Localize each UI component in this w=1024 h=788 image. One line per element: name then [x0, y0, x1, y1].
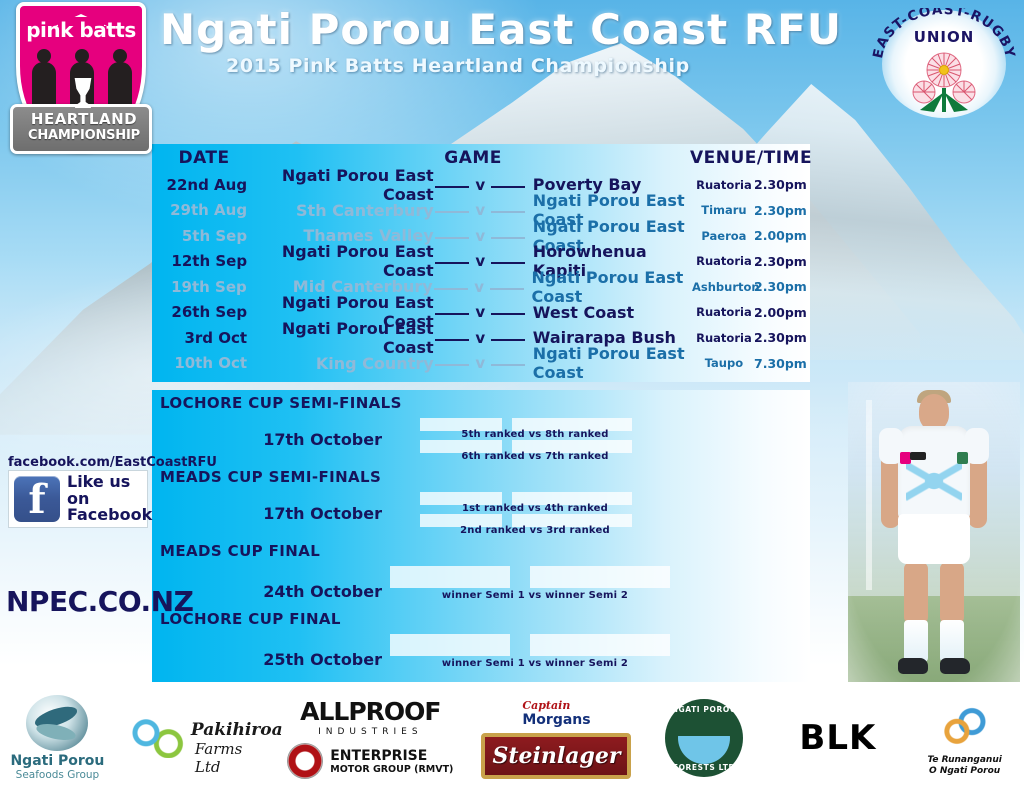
fixture-venue: Ruatoria	[694, 254, 754, 268]
fixture-score-vs: v	[433, 278, 526, 296]
fixture-date: 10th Oct	[152, 354, 257, 372]
home-score-blank	[435, 313, 469, 315]
finals-section-title: LOCHORE CUP SEMI-FINALS	[152, 390, 810, 416]
heartland-label: HEARTLAND	[13, 110, 155, 128]
fixture-time: 2.30pm	[754, 254, 810, 269]
home-score-blank	[435, 262, 469, 264]
fixture-date: 5th Sep	[152, 227, 257, 245]
player-silhouette-left	[32, 62, 56, 110]
sponsor-allproof-enterprise: ALLPROOF INDUSTRIES ENTERPRISE MOTOR GRO…	[273, 690, 467, 786]
allproof-wordmark: ALLPROOF	[300, 697, 440, 726]
versus-label: v	[475, 201, 485, 219]
fixture-poster: pink batts HEARTLAND CHAMPIONSHIP Ngati …	[0, 0, 1024, 788]
versus-label: v	[475, 252, 485, 270]
player-head	[919, 394, 949, 430]
sponsor-blk: BLK	[779, 690, 898, 786]
table-row: 29th AugSth CanterburyvNgati Porou East …	[152, 198, 810, 224]
fixtures-row-list: 22nd AugNgati Porou East CoastvPoverty B…	[152, 172, 810, 376]
away-score-blank	[491, 237, 525, 239]
sponsor-name-line2: Farms Ltd	[195, 740, 265, 776]
fixture-date: 19th Sep	[152, 278, 257, 296]
finals-match-line: 5th ranked vs 8th ranked	[420, 418, 650, 440]
finals-match-caption: winner Semi 1 vs winner Semi 2	[390, 590, 680, 601]
sponsor-ngati-porou-forests: NGATI POROU FORESTS LTD	[650, 690, 759, 786]
facebook-url[interactable]: facebook.com/EastCoastRFU	[8, 455, 217, 470]
finals-section-title: MEADS CUP FINAL	[152, 538, 810, 564]
heartland-banner: HEARTLAND CHAMPIONSHIP	[10, 104, 152, 154]
header-title-block: Ngati Porou East Coast RFU 2015 Pink Bat…	[160, 8, 860, 77]
player-silhouette-right	[108, 62, 132, 110]
fixture-score-vs: v	[434, 354, 527, 372]
sponsor-name-line2: Seafoods Group	[16, 769, 100, 781]
player-sock-left	[904, 620, 928, 662]
pink-batts-wordmark: pink batts	[10, 18, 152, 42]
finals-match-caption: 6th ranked vs 7th ranked	[420, 451, 650, 462]
away-score-blank	[491, 186, 525, 188]
finals-match-line: 2nd ranked vs 3rd ranked	[420, 514, 650, 536]
team-entry-box-left[interactable]	[390, 566, 510, 588]
fish-koru-icon	[26, 695, 88, 751]
away-score-blank	[491, 313, 525, 315]
enterprise-name: ENTERPRISE	[330, 748, 453, 764]
fixture-home-team: Sth Canterbury	[257, 201, 434, 220]
championship-label: CHAMPIONSHIP	[13, 128, 155, 143]
fixture-away-team: Ngati Porou East Coast	[527, 344, 694, 382]
fixture-venue: Ruatoria	[694, 331, 754, 345]
forests-inner-disc	[678, 712, 730, 764]
union-label: UNION	[868, 28, 1020, 46]
fixture-time: 2.30pm	[754, 279, 810, 294]
sponsor-name-line1: Ngati Porou	[10, 753, 104, 769]
away-score-blank	[491, 262, 525, 264]
blk-wordmark: BLK	[799, 718, 876, 758]
koru-icon	[125, 716, 195, 758]
team-entry-box-right[interactable]	[530, 566, 670, 588]
fixture-venue: Paeroa	[694, 229, 754, 243]
table-row: 19th SepMid CanterburyvNgati Porou East …	[152, 274, 810, 300]
home-score-blank	[435, 339, 469, 341]
table-row: 10th OctKing CountryvNgati Porou East Co…	[152, 351, 810, 377]
pink-batts-logo: pink batts HEARTLAND CHAMPIONSHIP	[10, 2, 152, 174]
fixture-score-vs: v	[434, 252, 527, 270]
finals-match-caption: 1st ranked vs 4th ranked	[420, 503, 650, 514]
finals-match-caption: 5th ranked vs 8th ranked	[420, 429, 650, 440]
te-runanganui-line1: Te Runanganui	[927, 755, 1001, 766]
fixture-date: 26th Sep	[152, 303, 257, 321]
jersey-badge-crest	[957, 452, 968, 464]
fixture-time: 7.30pm	[754, 356, 810, 371]
home-score-blank	[435, 364, 469, 366]
page-title: Ngati Porou East Coast RFU	[160, 8, 860, 52]
enterprise-seal-icon	[287, 743, 323, 779]
sponsor-pakihiroa-farms: Pakihiroa Farms Ltd	[119, 690, 265, 786]
player-leg-left	[904, 562, 928, 624]
versus-label: v	[475, 227, 485, 245]
east-coast-rugby-union-logo: EAST-COAST-RUGBY UNION	[868, 2, 1020, 124]
fixture-home-team: King Country	[257, 354, 434, 373]
player-sock-right	[940, 620, 964, 662]
versus-label: v	[475, 329, 485, 347]
table-row: 5th SepThames ValleyvNgati Porou East Co…	[152, 223, 810, 249]
finals-date: 24th October	[212, 582, 382, 601]
te-runanganui-name: Te Runanganui O Ngati Porou	[927, 755, 1001, 777]
finals-match-line: winner Semi 1 vs winner Semi 2	[390, 634, 680, 664]
facebook-cta-line1: Like us on	[67, 474, 152, 508]
forests-top-label: NGATI POROU	[665, 705, 743, 714]
away-score-blank	[491, 211, 525, 213]
player-shorts	[898, 514, 970, 564]
fixtures-panel: DATE GAME VENUE/TIME 22nd AugNgati Porou…	[152, 144, 810, 382]
sponsor-ngati-porou-seafoods: Ngati Porou Seafoods Group	[4, 690, 111, 786]
fixture-date: 22nd Aug	[152, 176, 257, 194]
finals-date: 25th October	[212, 650, 382, 669]
pohutukawa-flower-icon	[904, 46, 984, 118]
website-url[interactable]: NPEC.CO.NZ	[6, 585, 193, 618]
column-header-date: DATE	[152, 148, 256, 168]
home-score-blank	[434, 288, 468, 290]
home-score-blank	[435, 186, 469, 188]
fixture-score-vs: v	[434, 227, 527, 245]
away-score-blank	[490, 288, 524, 290]
fixture-venue: Ashburton	[692, 280, 754, 294]
finals-section-list: LOCHORE CUP SEMI-FINALS17th October5th r…	[152, 390, 810, 674]
fixture-date: 12th Sep	[152, 252, 257, 270]
allproof-tagline: INDUSTRIES	[318, 727, 422, 737]
te-runanganui-koru-icon	[936, 700, 994, 754]
jersey-badge-blk	[910, 452, 926, 460]
fixture-venue: Taupo	[694, 356, 754, 370]
home-score-blank	[435, 211, 469, 213]
versus-label: v	[475, 303, 485, 321]
field-grass	[848, 596, 1020, 682]
finals-section: MEADS CUP FINAL24th Octoberwinner Semi 1…	[152, 538, 810, 606]
te-runanganui-line2: O Ngati Porou	[927, 766, 1001, 777]
finals-section-body: 17th October5th ranked vs 8th ranked6th …	[152, 416, 810, 464]
page-subtitle: 2015 Pink Batts Heartland Championship	[160, 55, 860, 77]
steinlager-wordmark: Steinlager	[492, 743, 620, 769]
finals-date: 17th October	[212, 430, 382, 449]
finals-match-slots: 1st ranked vs 4th ranked2nd ranked vs 3r…	[420, 492, 650, 536]
forests-bottom-label: FORESTS LTD	[665, 763, 743, 772]
fixture-score-vs: v	[434, 176, 527, 194]
finals-section-body: 24th Octoberwinner Semi 1 vs winner Semi…	[152, 564, 810, 606]
away-score-blank	[491, 339, 525, 341]
finals-match-line: 6th ranked vs 7th ranked	[420, 440, 650, 462]
finals-section-body: 25th Octoberwinner Semi 1 vs winner Semi…	[152, 632, 810, 674]
players-silhouette-icon	[32, 48, 132, 110]
fixture-score-vs: v	[434, 303, 527, 321]
steinlager-plaque: Steinlager	[481, 733, 631, 779]
fixture-score-vs: v	[434, 201, 527, 219]
sponsor-bar: Ngati Porou Seafoods Group Pakihiroa Far…	[0, 688, 1024, 788]
versus-label: v	[475, 354, 485, 372]
table-row: 12th SepNgati Porou East CoastvHorowhenu…	[152, 249, 810, 275]
versus-label: v	[475, 176, 485, 194]
fixture-time: 2.30pm	[754, 330, 810, 345]
finals-section-body: 17th October1st ranked vs 4th ranked2nd …	[152, 490, 810, 538]
player-leg-right	[940, 562, 964, 624]
finals-panel: LOCHORE CUP SEMI-FINALS17th October5th r…	[152, 390, 810, 682]
finals-match-slots: winner Semi 1 vs winner Semi 2	[390, 634, 680, 664]
fixture-venue: Ruatoria	[694, 305, 754, 319]
finals-match-line: winner Semi 1 vs winner Semi 2	[390, 566, 680, 596]
enterprise-sub: MOTOR GROUP (RMVT)	[330, 764, 453, 775]
fixture-time: 2.30pm	[754, 203, 810, 218]
goal-post	[866, 400, 872, 590]
finals-match-slots: 5th ranked vs 8th ranked6th ranked vs 7t…	[420, 418, 650, 462]
fixture-date: 3rd Oct	[152, 329, 257, 347]
table-row: 26th SepNgati Porou East CoastvWest Coas…	[152, 300, 810, 326]
facebook-cta-line2: Facebook	[67, 507, 152, 524]
fixture-time: 2.30pm	[754, 177, 810, 192]
fixture-date: 29th Aug	[152, 201, 257, 219]
enterprise-logo-row: ENTERPRISE MOTOR GROUP (RMVT)	[287, 743, 453, 779]
like-us-on-facebook-button[interactable]: Like us on Facebook	[8, 470, 148, 528]
table-row: 3rd OctNgati Porou East CoastvWairarapa …	[152, 325, 810, 351]
finals-match-line: 1st ranked vs 4th ranked	[420, 492, 650, 514]
captain-morgans-line2: Morgans	[522, 712, 590, 728]
fixture-time: 2.00pm	[754, 305, 810, 320]
finals-date: 17th October	[212, 504, 382, 523]
finals-match-caption: 2nd ranked vs 3rd ranked	[420, 525, 650, 536]
player-photo	[848, 382, 1020, 682]
finals-match-caption: winner Semi 1 vs winner Semi 2	[390, 658, 680, 669]
fixture-away-team: West Coast	[527, 303, 694, 322]
fixture-venue: Timaru	[694, 203, 754, 217]
facebook-cta-text: Like us on Facebook	[67, 474, 152, 524]
column-header-venue-time: VENUE/TIME	[690, 148, 810, 168]
sponsor-te-runanganui: Te Runanganui O Ngati Porou	[905, 690, 1024, 786]
finals-section-title: MEADS CUP SEMI-FINALS	[152, 464, 810, 490]
captain-morgans-logo: Captain Morgans	[516, 698, 596, 729]
versus-label: v	[474, 278, 484, 296]
player-boot-left	[898, 658, 928, 674]
sponsor-name-line1: Pakihiroa	[191, 720, 283, 740]
away-score-blank	[491, 364, 525, 366]
team-entry-box-left[interactable]	[390, 634, 510, 656]
home-score-blank	[435, 237, 469, 239]
captain-morgans-line1: Captain	[522, 699, 590, 712]
table-row: 22nd AugNgati Porou East CoastvPoverty B…	[152, 172, 810, 198]
finals-section: LOCHORE CUP FINAL25th Octoberwinner Semi…	[152, 606, 810, 674]
finals-match-slots: winner Semi 1 vs winner Semi 2	[390, 566, 680, 596]
jersey-sleeve-right	[965, 428, 989, 464]
fixtures-header-row: DATE GAME VENUE/TIME	[152, 144, 810, 172]
fixture-time: 2.00pm	[754, 228, 810, 243]
finals-section-title: LOCHORE CUP FINAL	[152, 606, 810, 632]
forests-roundel-icon: NGATI POROU FORESTS LTD	[665, 699, 743, 777]
team-entry-box-right[interactable]	[530, 634, 670, 656]
fixture-score-vs: v	[434, 329, 527, 347]
facebook-icon	[14, 476, 60, 522]
finals-section: MEADS CUP SEMI-FINALS17th October1st ran…	[152, 464, 810, 538]
player-boot-right	[940, 658, 970, 674]
jersey-pattern	[906, 456, 962, 506]
finals-section: LOCHORE CUP SEMI-FINALS17th October5th r…	[152, 390, 810, 464]
fixture-venue: Ruatoria	[694, 178, 754, 192]
sponsor-steinlager: Captain Morgans Steinlager	[477, 690, 635, 786]
